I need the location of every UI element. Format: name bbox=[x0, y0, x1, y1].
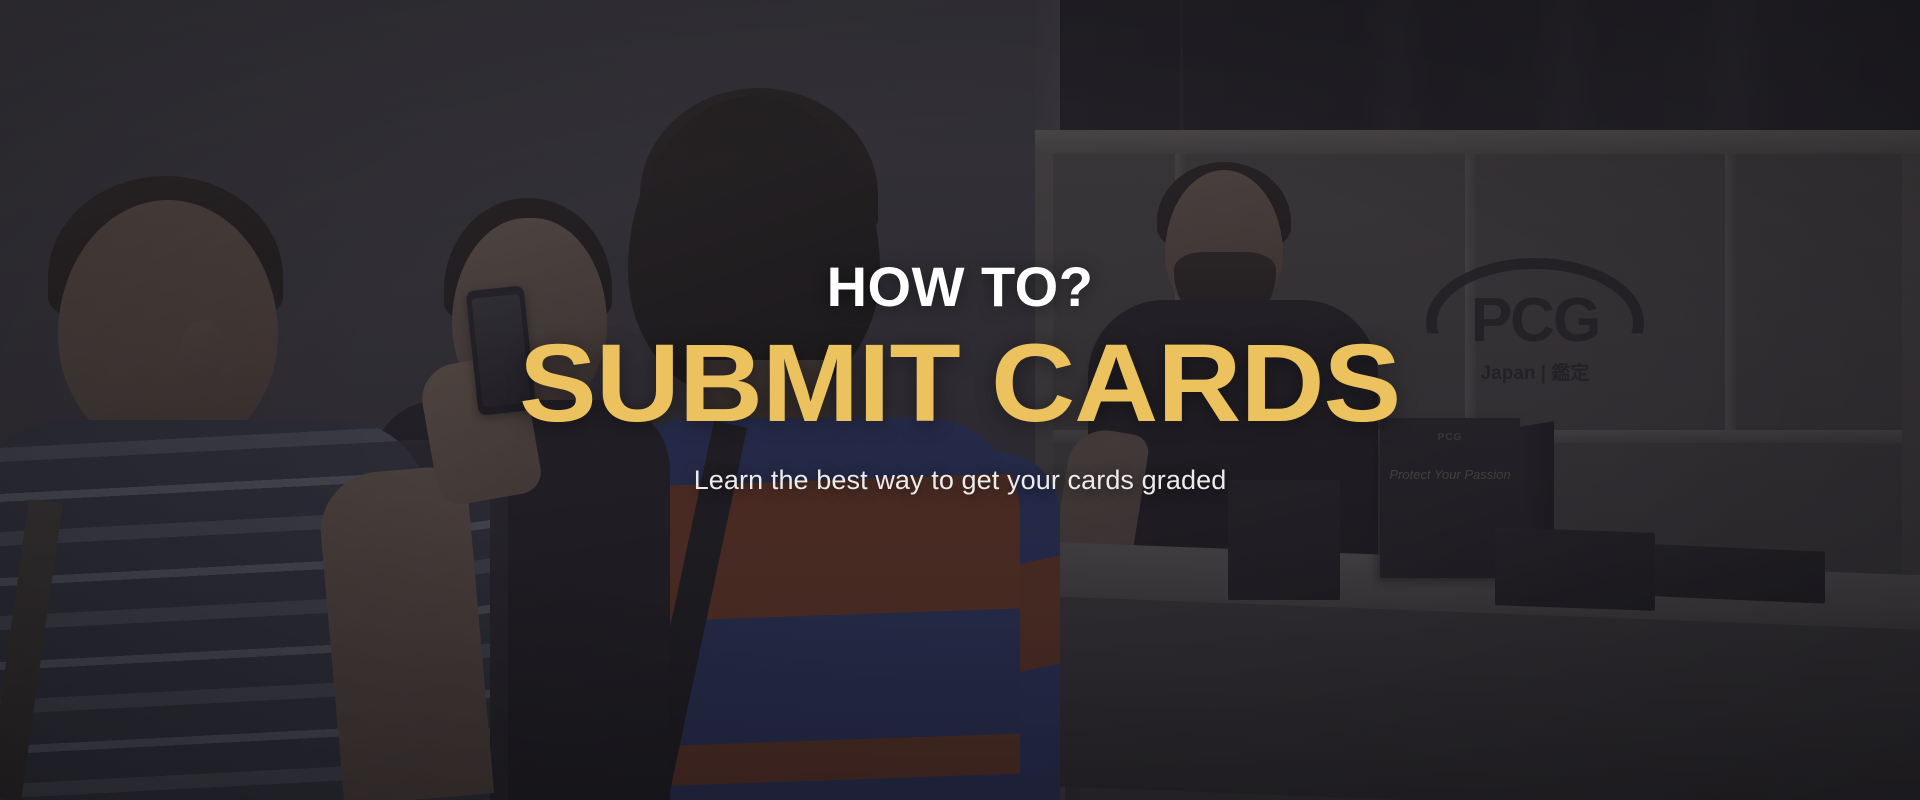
hero-banner: PCG Japan | 鑑定 PCG Protect Your Passion bbox=[0, 0, 1920, 800]
hero-content: HOW TO? SUBMIT CARDS Learn the best way … bbox=[0, 0, 1920, 800]
hero-eyebrow: HOW TO? bbox=[827, 259, 1094, 315]
hero-headline: SUBMIT CARDS bbox=[519, 329, 1400, 439]
hero-subheadline: Learn the best way to get your cards gra… bbox=[694, 465, 1227, 496]
